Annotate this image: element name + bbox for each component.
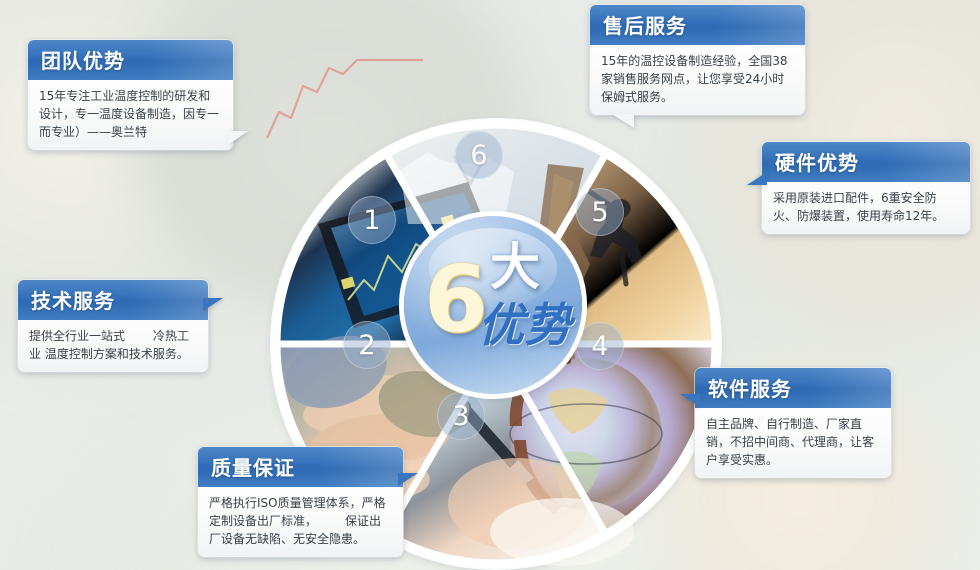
center-char-da: 大 bbox=[490, 242, 540, 292]
card-quality-line3: 厂设备无缺陷、无安全隐患。 bbox=[209, 532, 365, 546]
card-quality-line2b: 保证出 bbox=[345, 514, 381, 528]
card-hardware-body: 采用原装进口配件，6重安全防火、防爆装置，使用寿命12年。 bbox=[762, 182, 970, 234]
card-after-sales-title: 售后服务 bbox=[590, 5, 805, 45]
card-tech-service[interactable]: 技术服务 提供全行业一站式冷热工业 温度控制方案和技术服务。 bbox=[18, 280, 208, 372]
card-team-body: 15年专注工业温度控制的研发和设计，专一温度设备制造，因专一而专业）——奥兰特 bbox=[28, 80, 233, 150]
center-badge: 6 大 优势 bbox=[404, 216, 582, 394]
card-quality-assurance[interactable]: 质量保证 严格执行ISO质量管理体系，严格 定制设备出厂标准，保证出 厂设备无缺… bbox=[198, 447, 403, 557]
card-after-sales-tail bbox=[612, 114, 634, 128]
card-software-body: 自主品牌、自行制造、厂家直销，不招中间商、代理商，让客户享受实惠。 bbox=[695, 408, 891, 478]
card-tech-body: 提供全行业一站式冷热工业 温度控制方案和技术服务。 bbox=[18, 320, 208, 372]
center-script-youshi: 优势 bbox=[478, 300, 572, 350]
card-quality-title: 质量保证 bbox=[198, 447, 403, 487]
card-tech-line1: 提供全行业一站式 bbox=[29, 329, 125, 343]
card-quality-line2: 定制设备出厂标准， bbox=[209, 514, 317, 528]
card-team-tail bbox=[228, 131, 248, 145]
center-badge-text: 6 大 优势 bbox=[404, 216, 582, 394]
card-hardware-advantage[interactable]: 硬件优势 采用原装进口配件，6重安全防火、防爆装置，使用寿命12年。 bbox=[762, 142, 970, 234]
card-after-sales[interactable]: 售后服务 15年的温控设备制造经验，全国38家销售服务网点，让您享受24小时保姆… bbox=[590, 5, 805, 115]
card-software-title: 软件服务 bbox=[695, 368, 891, 408]
card-hardware-title: 硬件优势 bbox=[762, 142, 970, 182]
card-quality-tail bbox=[398, 473, 418, 486]
card-after-sales-body: 15年的温控设备制造经验，全国38家销售服务网点，让您享受24小时保姆式服务。 bbox=[590, 45, 805, 115]
card-tech-line2: 温度控制方案和技术服务。 bbox=[45, 347, 189, 361]
card-quality-body: 严格执行ISO质量管理体系，严格 定制设备出厂标准，保证出 厂设备无缺陷、无安全… bbox=[198, 487, 403, 557]
card-software-service[interactable]: 软件服务 自主品牌、自行制造、厂家直销，不招中间商、代理商，让客户享受实惠。 bbox=[695, 368, 891, 478]
card-tech-tail bbox=[203, 298, 223, 311]
card-quality-line1: 严格执行ISO质量管理体系，严格 bbox=[209, 496, 386, 510]
card-team-title: 团队优势 bbox=[28, 40, 233, 80]
card-software-tail bbox=[680, 394, 700, 407]
card-team-advantage[interactable]: 团队优势 15年专注工业温度控制的研发和设计，专一温度设备制造，因专一而专业）—… bbox=[28, 40, 233, 150]
card-tech-title: 技术服务 bbox=[18, 280, 208, 320]
card-hardware-tail bbox=[747, 172, 767, 185]
